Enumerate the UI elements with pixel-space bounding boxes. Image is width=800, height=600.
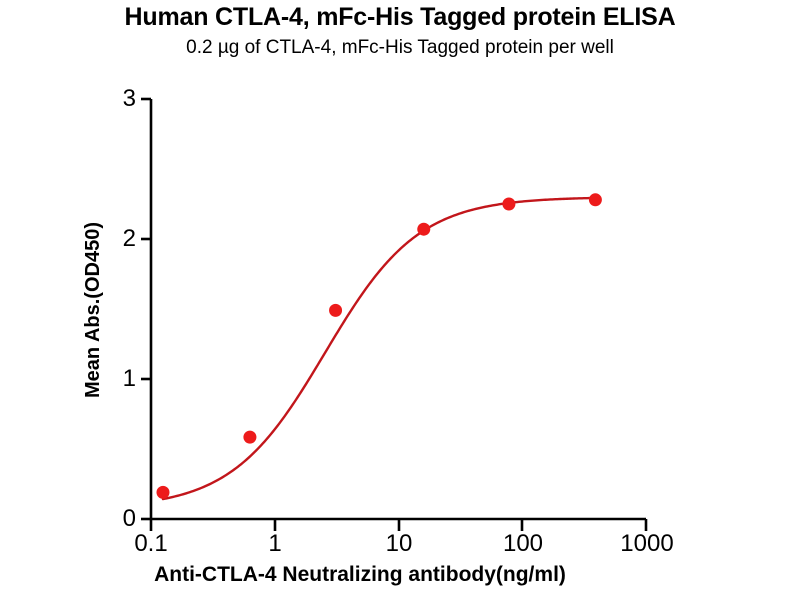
data-point — [417, 223, 430, 236]
data-point — [243, 431, 256, 444]
data-point — [502, 198, 515, 211]
data-point — [589, 193, 602, 206]
data-point — [329, 304, 342, 317]
plot-area — [0, 0, 800, 600]
series-line-mean-abs — [163, 198, 595, 499]
y-axis-ticks — [141, 99, 151, 519]
chart-figure: Human CTLA-4, mFc-His Tagged protein ELI… — [0, 0, 800, 600]
series-markers-mean-abs — [156, 193, 601, 499]
x-axis-ticks — [151, 519, 646, 531]
data-point — [156, 486, 169, 499]
